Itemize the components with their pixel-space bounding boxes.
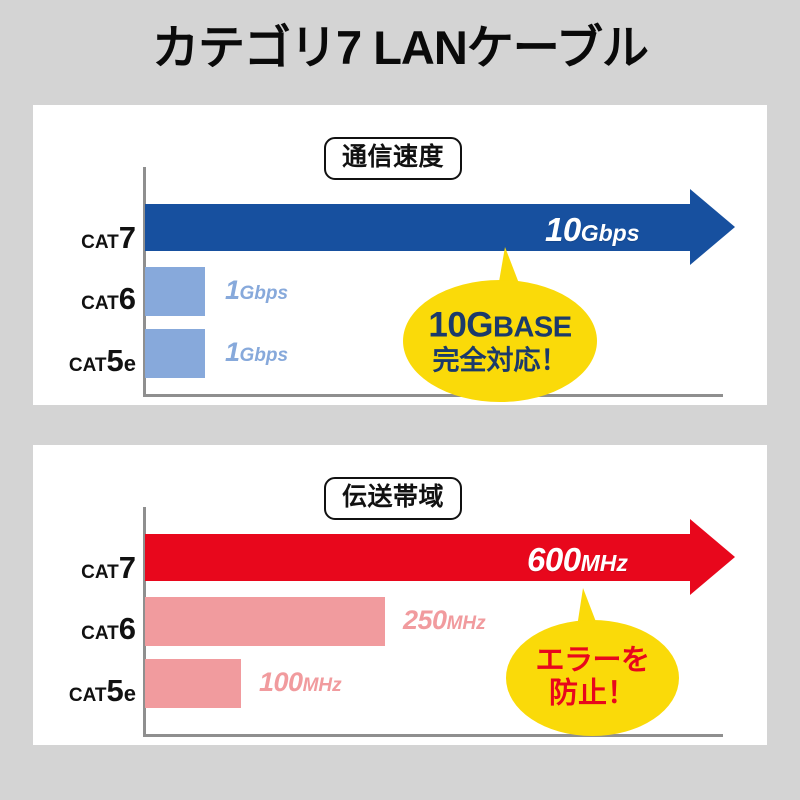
category-suffix: e bbox=[124, 681, 136, 706]
category-prefix: CAT bbox=[81, 293, 119, 314]
bubble-line-2: 防止！ bbox=[506, 679, 679, 710]
category-prefix: CAT bbox=[69, 355, 107, 376]
horizontal-axis-line bbox=[143, 734, 723, 737]
speech-bubble-text: エラーを 防止！ bbox=[506, 646, 679, 711]
bubble-line-1: 10GBASE bbox=[403, 307, 597, 345]
category-number: 6 bbox=[119, 611, 136, 646]
speech-bubble-text: 10GBASE 完全対応！ bbox=[403, 307, 597, 376]
horizontal-axis-line bbox=[143, 394, 723, 397]
category-prefix: CAT bbox=[81, 562, 119, 583]
bubble-line-1: エラーを bbox=[506, 646, 679, 677]
category-prefix: CAT bbox=[81, 232, 119, 253]
bar-value-cat6-speed: 1Gbps bbox=[225, 275, 288, 306]
chart-badge-bandwidth: 伝送帯域 bbox=[324, 477, 462, 520]
category-number: 5 bbox=[107, 673, 124, 708]
category-number: 7 bbox=[119, 550, 136, 585]
category-number: 5 bbox=[107, 343, 124, 378]
category-label-cat5e: CAT5e bbox=[33, 343, 136, 379]
arrow-head bbox=[690, 519, 735, 595]
bar-value-cat5e-speed: 1Gbps bbox=[225, 337, 288, 368]
category-label-cat7: CAT7 bbox=[33, 550, 136, 586]
bar-value-cat7-speed: 10Gbps bbox=[545, 211, 640, 249]
chart-badge-speed: 通信速度 bbox=[324, 137, 462, 180]
speech-bubble-10gbase: 10GBASE 完全対応！ bbox=[403, 280, 597, 402]
category-suffix: e bbox=[124, 351, 136, 376]
category-number: 7 bbox=[119, 220, 136, 255]
page-title: カテゴリ7 LANケーブル bbox=[0, 22, 800, 75]
category-label-cat7: CAT7 bbox=[33, 220, 136, 256]
speech-bubble-error: エラーを 防止！ bbox=[506, 620, 679, 736]
arrow-head bbox=[690, 189, 735, 265]
bar-cat5e-speed bbox=[145, 329, 205, 378]
bar-cat6-speed bbox=[145, 267, 205, 316]
category-prefix: CAT bbox=[81, 623, 119, 644]
category-label-cat5e: CAT5e bbox=[33, 673, 136, 709]
category-number: 6 bbox=[119, 281, 136, 316]
bar-cat6-bandwidth bbox=[145, 597, 385, 646]
category-label-cat6: CAT6 bbox=[33, 281, 136, 317]
category-prefix: CAT bbox=[69, 685, 107, 706]
bar-cat5e-bandwidth bbox=[145, 659, 241, 708]
bar-value-cat6-bandwidth: 250MHz bbox=[403, 605, 486, 636]
bar-value-cat7-bandwidth: 600MHz bbox=[527, 541, 628, 579]
chart-panel-speed: 通信速度 CAT7 10Gbps CAT6 1Gbps CAT5e 1Gbps bbox=[33, 105, 767, 405]
bubble-line-2: 完全対応！ bbox=[403, 346, 597, 375]
category-label-cat6: CAT6 bbox=[33, 611, 136, 647]
bar-value-cat5e-bandwidth: 100MHz bbox=[259, 667, 342, 698]
